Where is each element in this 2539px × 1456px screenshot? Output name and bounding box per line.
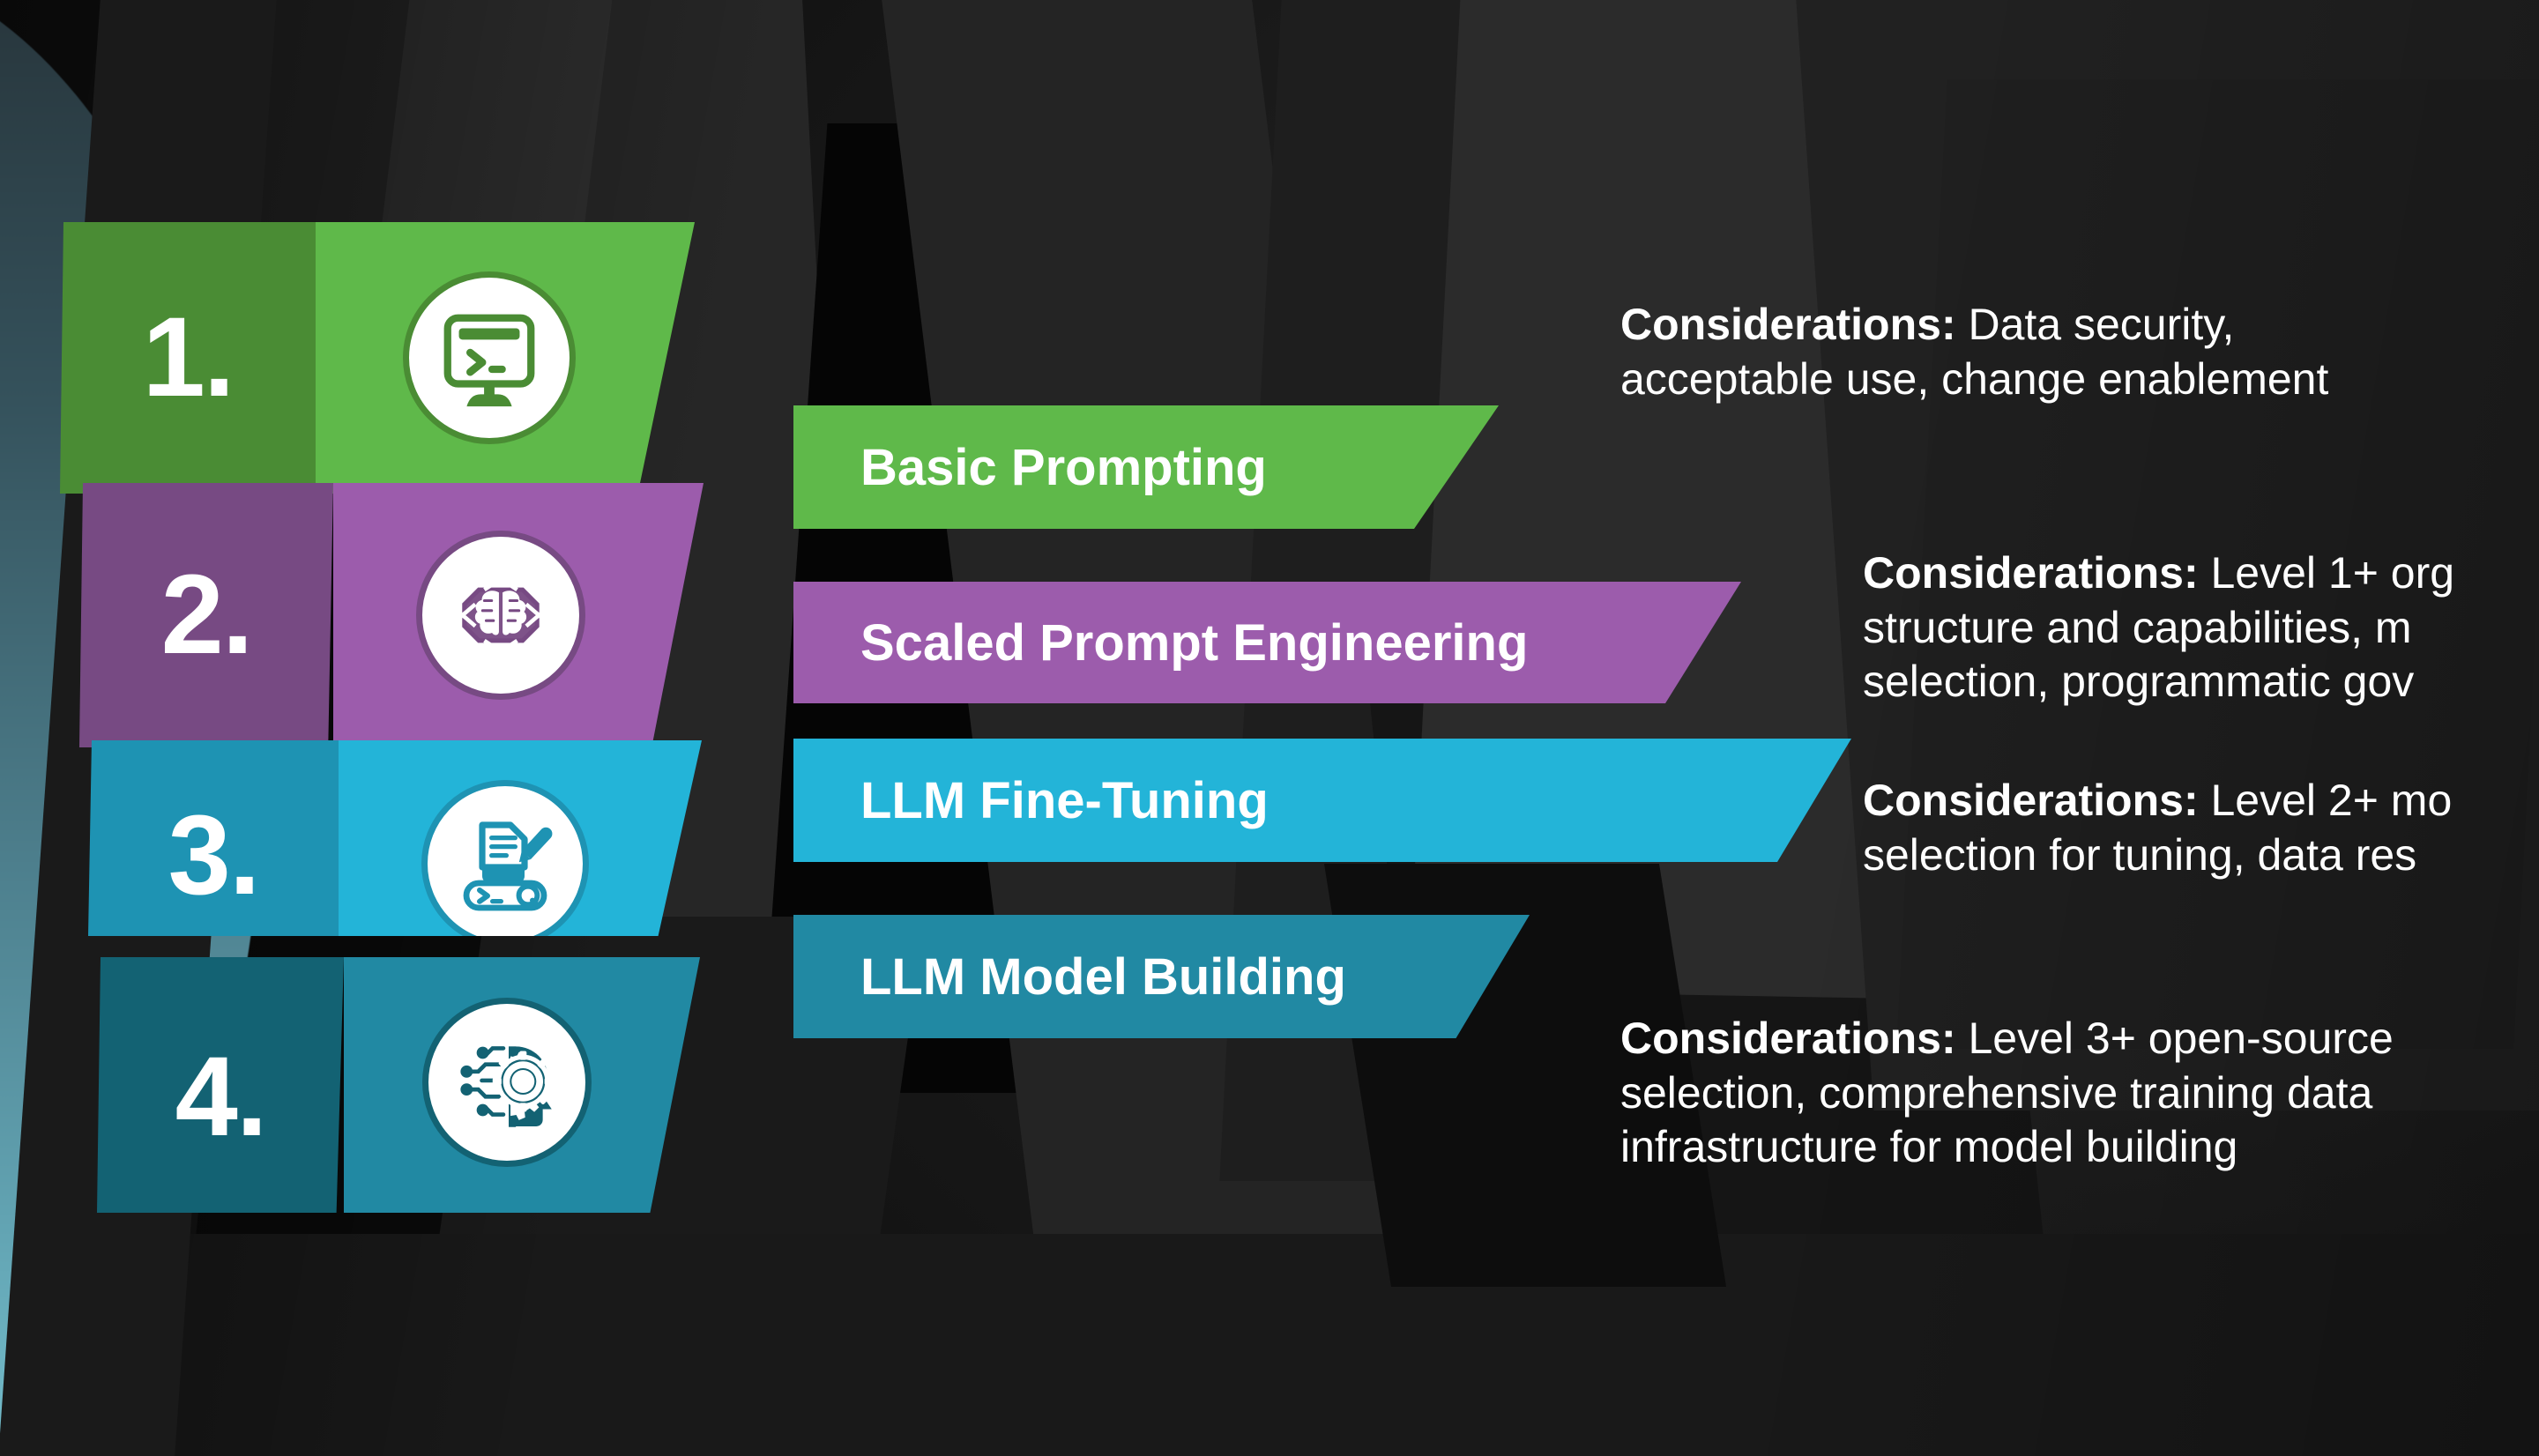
considerations-2: Considerations: Level 1+ org structure a… — [1863, 546, 2454, 709]
level-icon-block-1 — [316, 222, 695, 494]
considerations-heading: Considerations: — [1620, 300, 1956, 349]
level-icon-block-4 — [344, 957, 700, 1213]
considerations-line: Considerations: Level 3+ open-source — [1620, 1012, 2394, 1066]
considerations-text: Level 2+ mo — [2199, 776, 2453, 825]
level-number-block-2: 2. — [79, 483, 333, 747]
level-banner-1: Basic Prompting — [793, 405, 1499, 529]
level-label-2: Scaled Prompt Engineering — [860, 613, 1528, 672]
considerations-text: Data security, — [1956, 300, 2235, 349]
level-banner-3: LLM Fine-Tuning — [793, 739, 1851, 862]
level-number-3: 3. — [168, 799, 259, 912]
level-label-3: LLM Fine-Tuning — [860, 771, 1269, 830]
considerations-1: Considerations: Data security, acceptabl… — [1620, 298, 2328, 406]
considerations-heading: Considerations: — [1863, 548, 2199, 598]
head-gear-circuit-icon — [422, 998, 592, 1167]
document-pencil-terminal-icon — [421, 780, 589, 947]
level-number-block-4: 4. — [97, 957, 344, 1213]
level-number-1: 1. — [143, 301, 234, 414]
considerations-text: Level 3+ open-source — [1956, 1014, 2394, 1063]
level-number-2: 2. — [161, 559, 252, 672]
level-number-block-3: 3. — [88, 740, 339, 936]
considerations-line: infrastructure for model building — [1620, 1120, 2394, 1175]
brain-network-icon — [416, 531, 585, 700]
considerations-line: structure and capabilities, m — [1863, 601, 2454, 656]
level-number-block-1: 1. — [60, 222, 316, 494]
level-label-4: LLM Model Building — [860, 947, 1346, 1007]
considerations-line: Considerations: Level 1+ org — [1863, 546, 2454, 601]
considerations-heading: Considerations: — [1863, 776, 2199, 825]
level-icon-block-3 — [339, 740, 702, 936]
level-icon-block-2 — [333, 483, 704, 747]
considerations-line: Considerations: Data security, — [1620, 298, 2328, 353]
considerations-line: Considerations: Level 2+ mo — [1863, 774, 2452, 828]
level-banner-2: Scaled Prompt Engineering — [793, 582, 1741, 703]
considerations-line: selection, comprehensive training data — [1620, 1066, 2394, 1121]
considerations-line: selection, programmatic gov — [1863, 655, 2454, 709]
terminal-monitor-icon — [403, 271, 576, 444]
considerations-heading: Considerations: — [1620, 1014, 1956, 1063]
considerations-3: Considerations: Level 2+ mo selection fo… — [1863, 774, 2452, 882]
level-number-4: 4. — [175, 1041, 266, 1154]
considerations-line: acceptable use, change enablement — [1620, 353, 2328, 407]
level-banner-4: LLM Model Building — [793, 915, 1530, 1038]
considerations-text: Level 1+ org — [2199, 548, 2454, 598]
level-label-1: Basic Prompting — [860, 438, 1267, 497]
considerations-4: Considerations: Level 3+ open-source sel… — [1620, 1012, 2394, 1175]
considerations-line: selection for tuning, data res — [1863, 828, 2452, 883]
